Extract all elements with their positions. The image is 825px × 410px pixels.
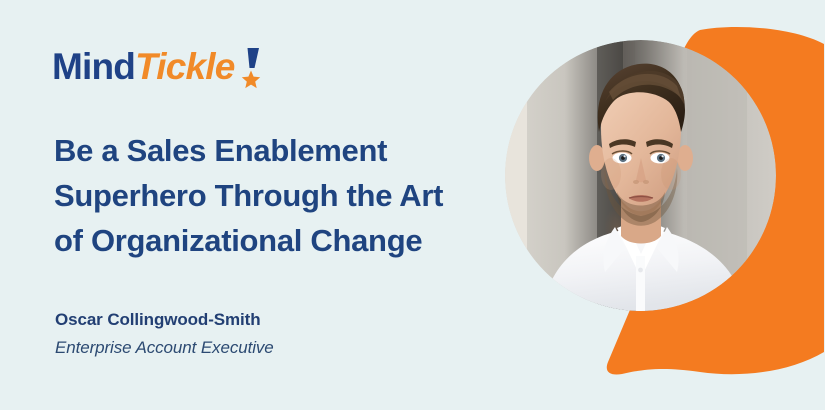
page-title-line-2: Superhero Through the Art xyxy=(54,173,524,218)
logo-word-mind: Mind xyxy=(52,46,135,88)
webinar-promo-slide: Mind Tickle Be a Sales Enablement Superh… xyxy=(0,0,825,410)
speaker-block: Oscar Collingwood-Smith Enterprise Accou… xyxy=(55,308,274,361)
mindtickle-logo[interactable]: Mind Tickle xyxy=(52,46,268,92)
page-title-line-3: of Organizational Change xyxy=(54,218,524,263)
logo-word-tickle: Tickle xyxy=(135,46,234,88)
exclamation-star-icon xyxy=(238,46,268,92)
speaker-name: Oscar Collingwood-Smith xyxy=(55,308,274,332)
page-title: Be a Sales Enablement Superhero Through … xyxy=(54,128,524,263)
speaker-photo-illustration xyxy=(505,40,776,311)
speaker-role: Enterprise Account Executive xyxy=(55,335,274,361)
speaker-portrait xyxy=(505,40,776,311)
page-title-line-1: Be a Sales Enablement xyxy=(54,128,524,173)
